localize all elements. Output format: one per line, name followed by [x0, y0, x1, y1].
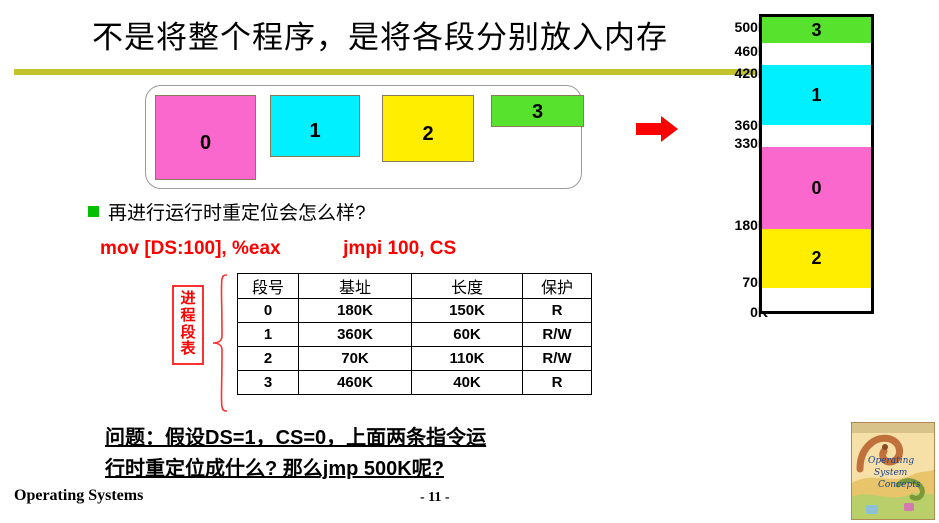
memory-block-0-label: 0 — [811, 178, 821, 199]
segment-table-header-row: 段号 基址 长度 保护 — [238, 274, 592, 299]
memory-gap-330K-360K — [762, 125, 871, 147]
row-1-base: 360K — [299, 323, 412, 347]
memory-block-3-label: 3 — [811, 20, 821, 41]
memory-bar: 3 1 0 2 — [759, 14, 874, 314]
row-3-length: 40K — [412, 371, 523, 395]
row-1-segno: 1 — [238, 323, 299, 347]
row-0-segno: 0 — [238, 299, 299, 323]
segment-block-3: 3 — [491, 95, 584, 127]
row-3-base: 460K — [299, 371, 412, 395]
row-3-segno: 3 — [238, 371, 299, 395]
memory-block-1: 1 — [762, 65, 871, 125]
row-2-segno: 2 — [238, 347, 299, 371]
memory-gap-420K-460K — [762, 43, 871, 65]
footer-course-title: Operating Systems — [14, 487, 143, 505]
book-title-line-3: Concepts — [878, 480, 921, 490]
segment-table-header-segno: 段号 — [238, 274, 299, 299]
row-1-length: 60K — [412, 323, 523, 347]
table-row: 3 460K 40K R — [238, 371, 592, 395]
memory-gap-0K-70K — [762, 288, 871, 311]
segment-block-0: 0 — [155, 95, 256, 180]
row-0-protect: R — [523, 299, 592, 323]
pst-char-3: 表 — [174, 341, 202, 358]
segment-table-header-length: 长度 — [412, 274, 523, 299]
operating-system-concepts-book-cover: Operating System Concepts — [851, 422, 935, 520]
segment-table-header-protect: 保护 — [523, 274, 592, 299]
instruction-row: mov [DS:100], %eax jmpi 100, CS — [100, 238, 456, 260]
memory-block-1-label: 1 — [811, 85, 821, 106]
table-row: 1 360K 60K R/W — [238, 323, 592, 347]
pst-char-1: 程 — [174, 308, 202, 325]
row-0-base: 180K — [299, 299, 412, 323]
program-segments-container: 0 1 2 3 — [145, 85, 582, 189]
right-arrow-icon — [636, 116, 678, 142]
row-0-length: 150K — [412, 299, 523, 323]
question-block: 问题：假设DS=1，CS=0，上面两条指令运 行时重定位成什么? 那么jmp 5… — [105, 423, 486, 485]
book-title-line-1: Operating — [868, 456, 914, 466]
memory-block-2: 2 — [762, 229, 871, 288]
row-3-protect: R — [523, 371, 592, 395]
segment-block-1-label: 1 — [271, 120, 359, 143]
instruction-left: mov [DS:100], %eax — [100, 238, 281, 259]
pst-char-2: 段 — [174, 325, 202, 342]
instruction-right: jmpi 100, CS — [343, 238, 456, 259]
square-bullet-icon — [88, 206, 99, 217]
book-cover-art: Operating System Concepts — [852, 423, 934, 519]
footer-page-number: - 11 - — [420, 490, 450, 506]
book-title-line-2: System — [874, 468, 907, 478]
segment-block-0-label: 0 — [156, 132, 255, 155]
segment-block-3-label: 3 — [492, 101, 583, 124]
table-row: 0 180K 150K R — [238, 299, 592, 323]
segment-block-2: 2 — [382, 95, 474, 162]
segment-table: 段号 基址 长度 保护 0 180K 150K R 1 360K 60K R/W… — [237, 273, 592, 395]
memory-block-3: 3 — [762, 17, 871, 43]
question-line-1: 问题：假设DS=1，CS=0，上面两条指令运 — [105, 423, 486, 454]
segment-table-header-base: 基址 — [299, 274, 412, 299]
process-segment-table-label: 进 程 段 表 — [172, 285, 204, 365]
bullet-label: 再进行运行时重定位会怎么样? — [108, 198, 366, 225]
row-2-protect: R/W — [523, 347, 592, 371]
page-title: 不是将整个程序，是将各段分别放入内存 — [40, 12, 720, 57]
row-2-length: 110K — [412, 347, 523, 371]
curly-brace-icon — [212, 274, 228, 412]
segment-block-2-label: 2 — [383, 123, 473, 146]
physical-memory-diagram: 500K 460K 420K 360K 330K 180K 70K 0K 3 1… — [700, 10, 930, 320]
memory-block-0: 0 — [762, 147, 871, 229]
pst-char-0: 进 — [174, 291, 202, 308]
table-row: 2 70K 110K R/W — [238, 347, 592, 371]
row-2-base: 70K — [299, 347, 412, 371]
segment-block-1: 1 — [270, 95, 360, 157]
slide-canvas: 不是将整个程序，是将各段分别放入内存 0 1 2 3 500K 460K 420… — [0, 0, 939, 523]
row-1-protect: R/W — [523, 323, 592, 347]
title-divider — [14, 69, 756, 75]
question-line-2: 行时重定位成什么? 那么jmp 500K呢? — [105, 454, 486, 485]
memory-block-2-label: 2 — [811, 248, 821, 269]
bullet-row: 再进行运行时重定位会怎么样? — [88, 198, 366, 225]
